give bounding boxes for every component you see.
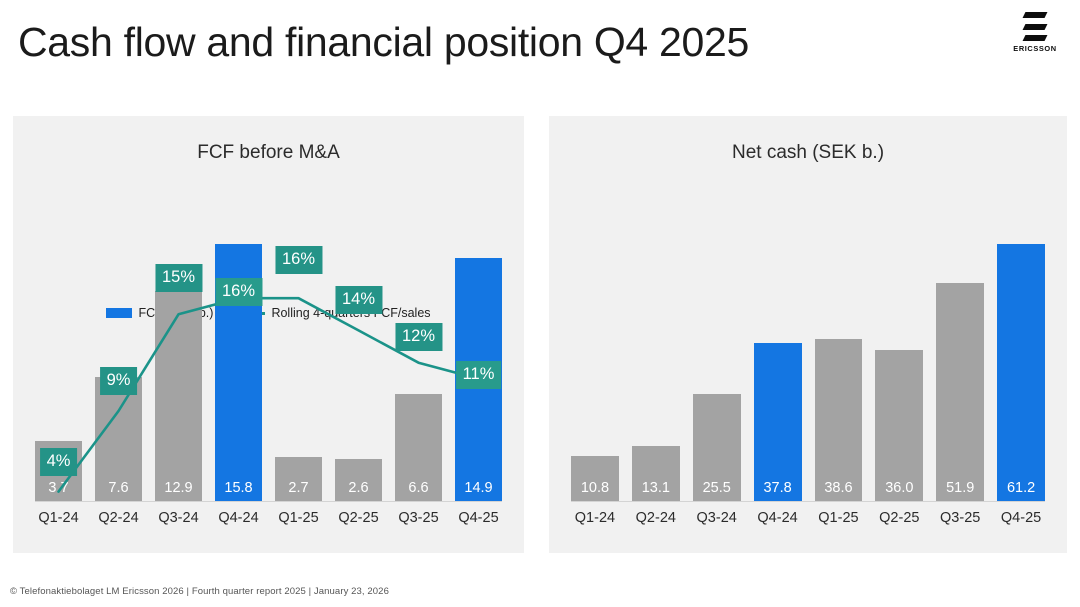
ericsson-wordmark: ERICSSON [1013,44,1056,53]
bar-value-label: 12.9 [164,479,192,501]
bar-value-label: 38.6 [824,479,852,501]
x-axis-labels-net-cash: Q1-24Q2-24Q3-24Q4-24Q1-25Q2-25Q3-25Q4-25 [571,508,1045,528]
x-axis-line-fcf [35,501,502,502]
bar-highlighted: 37.8 [754,343,802,501]
bar-group-net-cash: 10.813.125.537.838.636.051.961.2 [571,216,1045,501]
x-axis-label: Q1-25 [275,508,322,528]
bar-value-label: 36.0 [885,479,913,501]
x-axis-label: Q4-24 [215,508,262,528]
chart-panel-net-cash: Net cash (SEK b.) 10.813.125.537.838.636… [549,116,1067,553]
x-axis-label: Q3-25 [395,508,442,528]
x-axis-label: Q3-25 [936,508,984,528]
bar-slot: 15.8 [215,216,262,501]
bar-value-label: 2.6 [348,479,368,501]
bar-value-label: 37.8 [763,479,791,501]
x-axis-label: Q1-25 [815,508,863,528]
bar-slot: 61.2 [997,216,1045,501]
bar-value-label: 15.8 [224,479,252,501]
x-axis-label: Q2-24 [632,508,680,528]
fcf-sales-percent-label: 16% [215,278,262,306]
x-axis-label: Q1-24 [35,508,82,528]
bar-value-label: 10.8 [581,479,609,501]
bar-value-label: 6.6 [408,479,428,501]
page-title: Cash flow and financial position Q4 2025 [18,16,749,68]
x-axis-label: Q4-24 [754,508,802,528]
x-axis-label: Q2-25 [875,508,923,528]
bar-value-label: 2.7 [288,479,308,501]
bar: 36.0 [875,350,923,501]
x-axis-label: Q2-25 [335,508,382,528]
bar-value-label: 25.5 [703,479,731,501]
footer-copyright: © Telefonaktiebolaget LM Ericsson 2026 |… [10,586,389,597]
x-axis-label: Q2-24 [95,508,142,528]
bar: 2.6 [335,459,382,501]
bar: 12.9 [155,291,202,501]
bar: 13.1 [632,446,680,501]
bar-slot: 38.6 [815,216,863,501]
fcf-sales-percent-label: 16% [275,246,322,274]
bar-slot: 51.9 [936,216,984,501]
bar-slot: 25.5 [693,216,741,501]
chart-title-net-cash: Net cash (SEK b.) [549,142,1067,164]
bar-slot: 13.1 [632,216,680,501]
fcf-sales-percent-label: 11% [456,361,502,389]
x-axis-label: Q4-25 [997,508,1045,528]
x-axis-line-net-cash [571,501,1045,502]
bar: 7.6 [95,377,142,501]
bar-value-label: 14.9 [464,479,492,501]
bar-group-fcf: 3.77.612.915.82.72.66.614.9 [35,216,502,501]
fcf-sales-percent-label: 15% [155,264,202,292]
ericsson-logo: ERICSSON [1004,12,1066,58]
bar-value-label: 13.1 [642,479,670,501]
ericsson-bars-icon [1022,12,1048,41]
bar-slot: 12.9 [155,216,202,501]
bar-value-label: 7.6 [108,479,128,501]
fcf-sales-percent-label: 4% [40,448,78,476]
bar-slot: 14.9 [455,216,502,501]
bar-slot: 10.8 [571,216,619,501]
bar: 25.5 [693,394,741,501]
bar-slot: 37.8 [754,216,802,501]
x-axis-label: Q3-24 [693,508,741,528]
fcf-sales-percent-label: 14% [335,286,382,314]
bar: 51.9 [936,283,984,501]
x-axis-labels-fcf: Q1-24Q2-24Q3-24Q4-24Q1-25Q2-25Q3-25Q4-25 [35,508,502,528]
bar-slot: 2.6 [335,216,382,501]
bar-slot: 7.6 [95,216,142,501]
bar-value-label: 51.9 [946,479,974,501]
chart-title-fcf: FCF before M&A [13,142,524,164]
bar-highlighted: 61.2 [997,244,1045,501]
bar-slot: 36.0 [875,216,923,501]
x-axis-label: Q1-24 [571,508,619,528]
bar: 38.6 [815,339,863,501]
fcf-sales-percent-label: 12% [395,323,442,351]
bar-slot: 6.6 [395,216,442,501]
bar: 6.6 [395,394,442,501]
chart-panel-fcf: FCF before M&A FCF (SEK b.) Rolling 4-qu… [13,116,524,553]
bar-value-label: 3.7 [48,479,68,501]
fcf-sales-percent-label: 9% [100,367,138,395]
bar: 10.8 [571,456,619,501]
bar-value-label: 61.2 [1007,479,1035,501]
bar: 2.7 [275,457,322,501]
x-axis-label: Q3-24 [155,508,202,528]
x-axis-label: Q4-25 [455,508,502,528]
